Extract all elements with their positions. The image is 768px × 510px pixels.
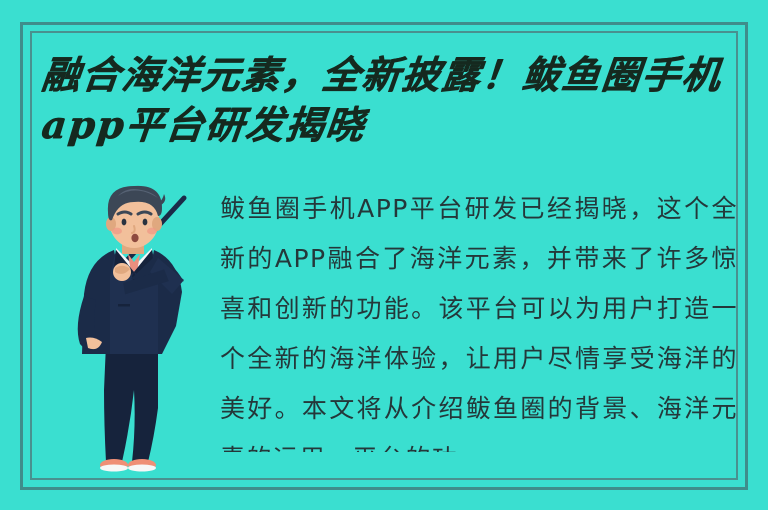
cheek-left xyxy=(112,228,122,235)
title-line-2: app平台研发揭晓 xyxy=(40,102,761,148)
poster-canvas: 融合海洋元素，全新披露！鲅鱼圈手机 app平台研发揭晓 鲅鱼圈手机APP平台研发… xyxy=(0,0,768,510)
trousers xyxy=(104,344,158,462)
eye-left xyxy=(122,219,127,226)
article-body: 鲅鱼圈手机APP平台研发已经揭晓，这个全新的APP融合了海洋元素，并带来了许多惊… xyxy=(220,184,738,452)
eye-right xyxy=(143,219,148,226)
cheek-right xyxy=(147,228,157,235)
shoe-sole-left xyxy=(100,465,128,472)
pocket-left xyxy=(118,304,130,307)
shoe-sole-right xyxy=(128,465,156,472)
article-paragraph: 鲅鱼圈手机APP平台研发已经揭晓，这个全新的APP融合了海洋元素，并带来了许多惊… xyxy=(220,184,738,452)
businessman-with-pointer-illustration xyxy=(58,176,218,476)
title-line-1: 融合海洋元素，全新披露！鲅鱼圈手机 xyxy=(40,52,761,98)
mouth xyxy=(131,234,138,242)
page-title: 融合海洋元素，全新披露！鲅鱼圈手机 app平台研发揭晓 xyxy=(42,52,758,148)
